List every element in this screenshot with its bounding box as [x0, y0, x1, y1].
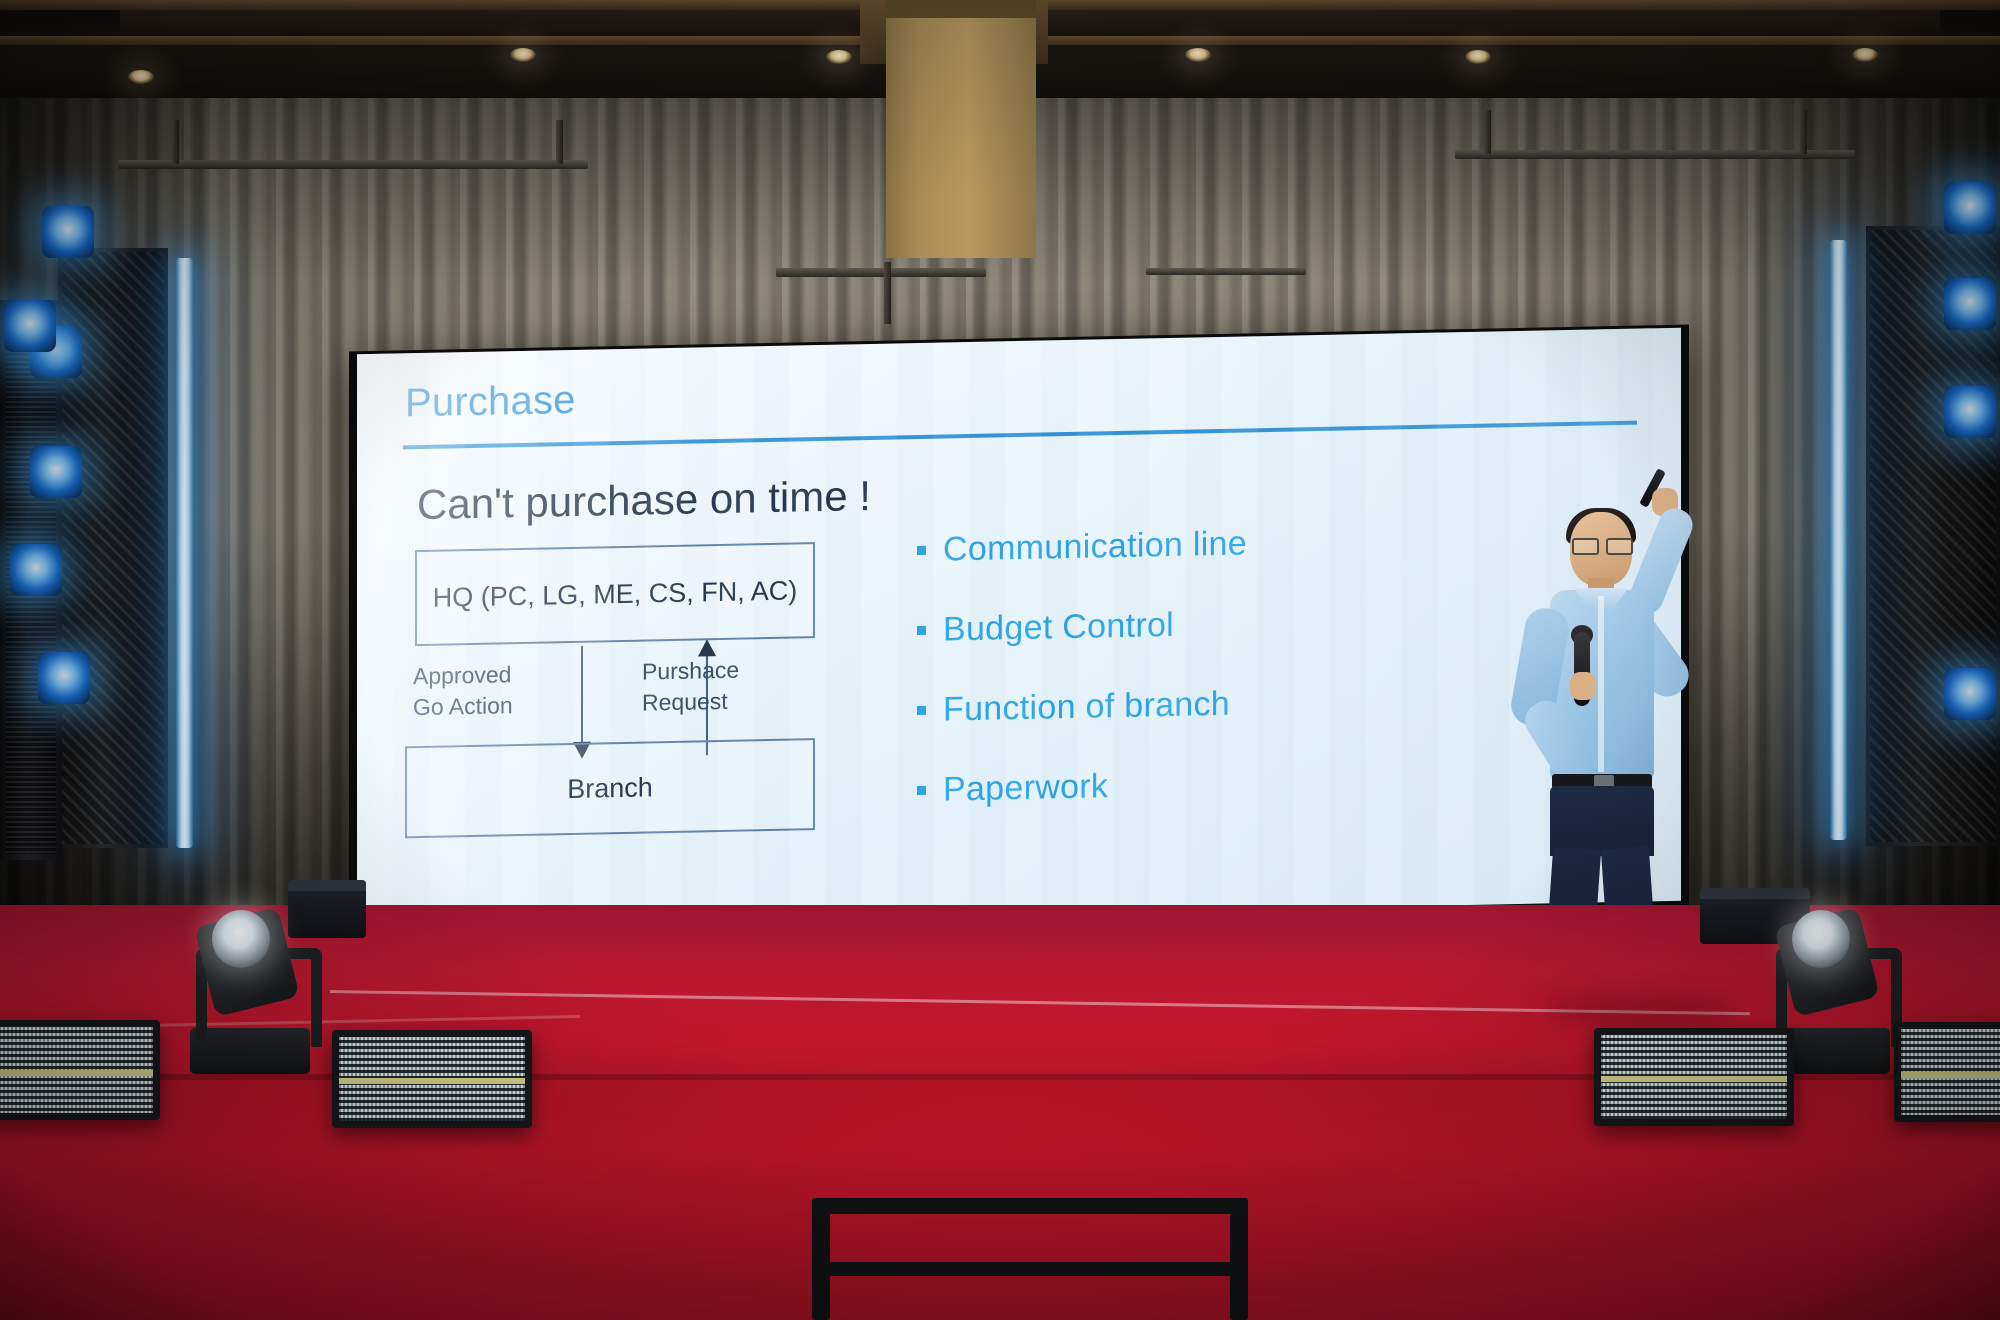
rail-top-bar: [812, 1198, 1248, 1214]
ceiling-beam: [0, 36, 880, 45]
truss-pipe: [118, 160, 588, 169]
list-item: Communication line: [917, 519, 1537, 570]
downlight-icon: [1465, 50, 1491, 64]
par-light-icon: [42, 206, 94, 258]
flow-label-request-line1: Purshace: [642, 655, 739, 688]
presenter-hips: [1550, 786, 1654, 856]
downlight-icon: [510, 48, 536, 62]
bullet-label: Budget Control: [943, 606, 1174, 650]
par-light-icon: [30, 446, 82, 498]
diagram-box-hq: HQ (PC, LG, ME, CS, FN, AC): [415, 542, 815, 646]
truss-drop: [172, 120, 179, 164]
list-item: Budget Control: [917, 599, 1537, 650]
truss-pipe: [776, 268, 986, 277]
bullet-square-icon: [917, 626, 926, 635]
flow-label-request-line2: Request: [642, 686, 739, 719]
truss-drop: [1800, 110, 1807, 154]
par-light-icon: [4, 300, 56, 352]
shirt-placket: [1598, 596, 1604, 772]
flow-arrow-up-head: [698, 639, 716, 656]
bullet-square-icon: [917, 786, 926, 795]
moving-head-light-left: [178, 900, 328, 1090]
slide: Purchase Can't purchase on time ! HQ (PC…: [357, 328, 1681, 928]
presenter-hand-holding-mic: [1570, 672, 1596, 700]
ceiling-panel: [1040, 10, 1940, 36]
wall-column: [886, 0, 1036, 258]
rail-post-right: [1230, 1198, 1248, 1320]
rail-post-left: [812, 1198, 830, 1320]
downlight-icon: [826, 50, 852, 64]
slide-title-rule: [403, 421, 1637, 450]
glasses-lens-left: [1572, 538, 1599, 555]
flow-label-approved-line2: Go Action: [413, 690, 513, 723]
flow-label-approved-line1: Approved: [413, 659, 513, 692]
glasses-lens-right: [1606, 538, 1633, 555]
hazer-vent: [288, 880, 366, 891]
par-light-icon: [1944, 182, 1996, 234]
diagram-box-branch: Branch: [405, 738, 815, 838]
slide-headline: Can't purchase on time !: [417, 472, 871, 529]
downlight-icon: [1185, 48, 1211, 62]
wall-column-cap: [886, 0, 1036, 18]
list-item: Function of branch: [917, 679, 1537, 730]
list-item: Paperwork: [917, 759, 1537, 810]
bullet-label: Function of branch: [943, 685, 1230, 730]
blinder-stripe: [1901, 1072, 2000, 1078]
stage-stair-rail: [812, 1198, 1252, 1320]
truss-drop: [556, 120, 563, 164]
truss-pipe: [1455, 150, 1855, 159]
bullet-square-icon: [917, 706, 926, 715]
led-bar-right: [1830, 240, 1847, 840]
par-light-icon: [1944, 668, 1996, 720]
flow-arrow-down-line: [581, 646, 583, 751]
stage-photo-scene: Purchase Can't purchase on time ! HQ (PC…: [0, 0, 2000, 1320]
led-blinder-2: [332, 1030, 532, 1128]
truss-drop: [884, 262, 891, 324]
blinder-stripe: [1601, 1076, 1787, 1082]
led-blinder-1: [0, 1020, 160, 1120]
bullet-square-icon: [917, 546, 926, 555]
glasses-icon: [1572, 538, 1630, 551]
downlight-icon: [128, 70, 154, 84]
moving-head-lens: [212, 910, 270, 968]
led-bar-left: [176, 258, 193, 848]
blinder-stripe: [0, 1070, 153, 1076]
flow-label-approved: Approved Go Action: [413, 659, 513, 723]
projection-screen: Purchase Can't purchase on time ! HQ (PC…: [357, 328, 1681, 928]
ceiling-beam: [1040, 36, 2000, 45]
led-blinder-3: [1594, 1028, 1794, 1126]
bullet-label: Paperwork: [943, 767, 1108, 809]
flow-label-request: Purshace Request: [642, 655, 739, 719]
blinder-stripe: [339, 1078, 525, 1084]
bullet-label: Communication line: [943, 524, 1247, 569]
led-blinder-4: [1894, 1022, 2000, 1122]
rail-mid-bar: [812, 1262, 1248, 1276]
truss-pipe: [1146, 268, 1306, 275]
downlight-icon: [1852, 48, 1878, 62]
hazer-vent: [1700, 888, 1810, 899]
slide-title: Purchase: [405, 378, 576, 426]
par-light-icon: [38, 652, 90, 704]
ceiling-panel: [120, 10, 860, 36]
par-light-icon: [1944, 278, 1996, 330]
presenter-shadow: [1540, 995, 1740, 1023]
par-light-icon: [10, 544, 62, 596]
par-light-icon: [1944, 386, 1996, 438]
moving-head-lens: [1792, 910, 1850, 968]
slide-bullet-list: Communication line Budget Control Functi…: [917, 519, 1537, 851]
truss-drop: [1484, 110, 1491, 154]
